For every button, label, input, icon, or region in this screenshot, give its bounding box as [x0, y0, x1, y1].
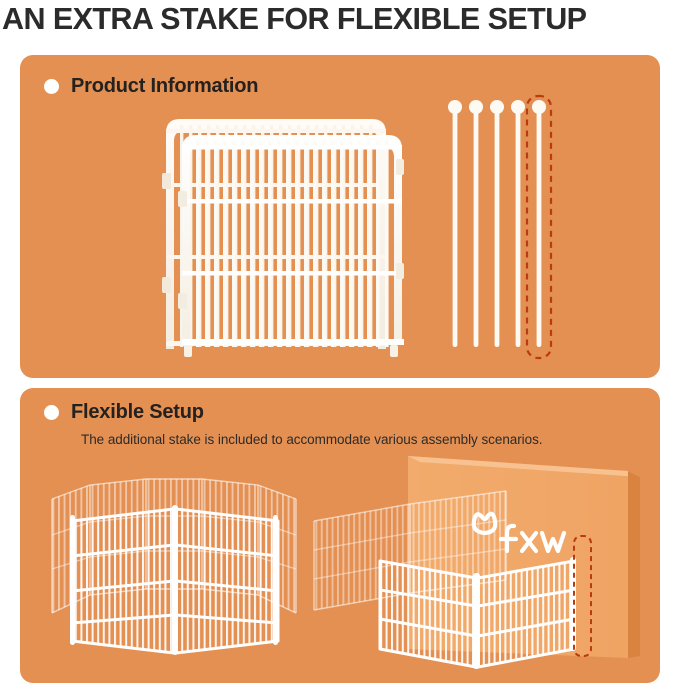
dot-bullet-icon — [44, 405, 59, 420]
center-hinge-post — [172, 505, 178, 655]
front-right-panel — [176, 509, 278, 653]
stake — [511, 100, 525, 347]
stake-highlighted — [532, 100, 546, 347]
panel-flexible-heading: Flexible Setup — [71, 401, 204, 424]
octagon-playpen-illustration — [30, 463, 320, 663]
wall-mounted-playpen-illustration — [310, 443, 660, 678]
stake — [448, 100, 462, 347]
panel-product-information: Product Information — [20, 55, 660, 378]
pen-near-side — [380, 557, 576, 669]
stake — [490, 100, 504, 347]
panel-flexible-header: Flexible Setup — [44, 401, 204, 424]
stake — [469, 100, 483, 347]
front-left-panel — [70, 509, 174, 653]
pen-center-post — [473, 573, 480, 669]
dot-bullet-icon — [44, 79, 59, 94]
ground-stakes-illustration — [435, 93, 575, 365]
page-title: AN EXTRA STAKE FOR FLEXIBLE SETUP — [2, 2, 667, 36]
playpen-panel-pair-illustration — [150, 95, 430, 365]
panel-flexible-setup: Flexible Setup The additional stake is i… — [20, 388, 660, 683]
